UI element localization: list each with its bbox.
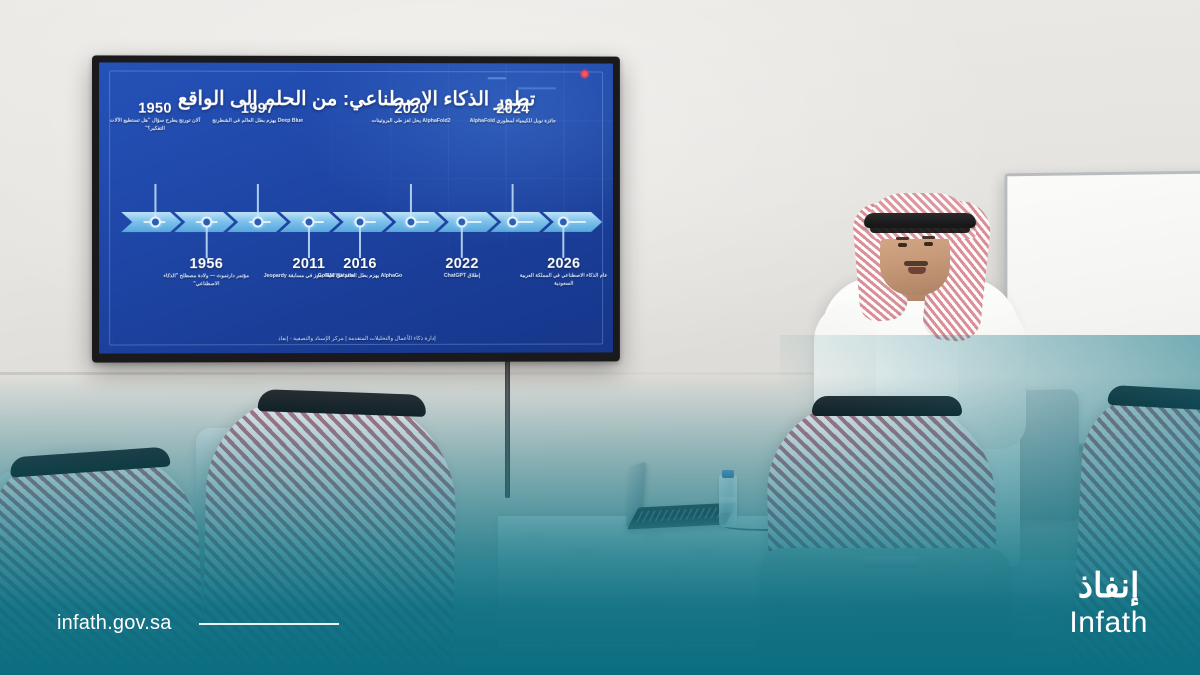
- timeline-node: [507, 216, 518, 227]
- chair-foreground-armrest: [862, 556, 920, 568]
- timeline-description: AlphaGo يهزم بطل العالم في لعبة Go: [308, 273, 412, 281]
- infath-logo-arabic: إنفاذ: [1069, 569, 1148, 605]
- water-bottle-label: [719, 497, 737, 513]
- presenter-eyebrow-left: [896, 237, 909, 240]
- timeline-item: 1956مؤتمر دارتموث — ولادة مصطلح "الذكاء …: [154, 256, 258, 288]
- audience-igal: [812, 396, 962, 416]
- timeline-item: 2022إطلاق ChatGPT: [410, 256, 514, 281]
- timeline-description: إطلاق ChatGPT: [410, 273, 514, 281]
- timeline-description: AlphaFold2 يحل لغز طي البروتينات: [359, 118, 463, 126]
- presenter-table: [498, 516, 798, 666]
- tablecloth-pattern: [498, 516, 798, 666]
- timeline-node: [201, 217, 212, 228]
- presenter-igal-lower: [870, 225, 970, 233]
- timeline-description: آلان تورنج يطرح سؤال "هل تستطيع الآلات ا…: [103, 118, 208, 133]
- timeline-description: Deep Blue يهزم بطل العالم في الشطرنج: [205, 118, 309, 126]
- infath-logo-latin: Infath: [1069, 606, 1148, 639]
- timeline-node: [355, 216, 366, 227]
- timeline-description: مؤتمر دارتموث — ولادة مصطلح "الذكاء الاص…: [154, 273, 258, 288]
- timeline-stem: [205, 224, 207, 258]
- timeline-year: 2016: [308, 256, 412, 272]
- timeline-year: 1950: [103, 101, 208, 117]
- timeline-description: جائزة نوبل للكيمياء لمطوري AlphaFold: [461, 118, 564, 126]
- timeline-item: 1997Deep Blue يهزم بطل العالم في الشطرنج: [205, 101, 309, 126]
- presenter-eyebrow-right: [922, 236, 935, 239]
- timeline-node: [457, 216, 468, 227]
- timeline-chevron: [543, 212, 602, 232]
- timeline-node: [303, 217, 314, 228]
- chair-foreground-seat: [786, 568, 982, 668]
- website-url-block: infath.gov.sa: [57, 612, 339, 635]
- timeline-node: [149, 217, 160, 228]
- timeline-item: 2020AlphaFold2 يحل لغز طي البروتينات: [359, 101, 463, 126]
- timeline-node: [406, 216, 417, 227]
- audience-member: [0, 447, 206, 675]
- photo-scene: تطور الذكاء الاصطناعي: من الحلم إلى الوا…: [0, 0, 1200, 675]
- timeline-stem: [308, 224, 310, 258]
- water-bottle-cap: [722, 470, 734, 478]
- timeline-stem: [359, 224, 361, 258]
- timeline-item: 2026عام الذكاء الاصطناعي في المملكة العر…: [512, 256, 613, 288]
- timeline-year: 2020: [359, 101, 463, 117]
- timeline-item: 2016AlphaGo يهزم بطل العالم في لعبة Go: [308, 256, 412, 281]
- timeline-node: [558, 216, 569, 227]
- timeline-stem: [563, 224, 565, 258]
- slide-footer: إدارة ذكاء الأعمال والتحليلات المتقدمة |…: [99, 336, 613, 343]
- timeline-item: 1950آلان تورنج يطرح سؤال "هل تستطيع الآل…: [103, 101, 208, 133]
- presenter-mouth: [908, 267, 926, 274]
- website-url[interactable]: infath.gov.sa: [57, 612, 172, 635]
- timeline-chevron: [438, 212, 497, 232]
- timeline-year: 2022: [410, 256, 514, 272]
- timeline-year: 2026: [512, 256, 613, 272]
- presenter-mustache: [904, 261, 928, 266]
- infath-logo: إنفاذ Infath: [1069, 569, 1148, 639]
- presenter-eye-left: [898, 243, 907, 247]
- presenter-eye-right: [924, 242, 933, 246]
- timeline-node: [252, 217, 263, 228]
- timeline-year: 1956: [154, 256, 258, 272]
- presentation-slide: تطور الذكاء الاصطناعي: من الحلم إلى الوا…: [99, 62, 613, 353]
- recording-dot-icon: [580, 69, 589, 78]
- timeline-stem: [461, 224, 463, 258]
- tv-stand-arm: [505, 358, 510, 498]
- timeline-year: 1997: [205, 101, 309, 117]
- timeline-year: 2024: [461, 101, 564, 117]
- timeline-item: 2024جائزة نوبل للكيمياء لمطوري AlphaFold: [461, 101, 564, 126]
- url-underline-rule: [199, 623, 339, 625]
- timeline-description: عام الذكاء الاصطناعي في المملكة العربية …: [512, 273, 613, 288]
- wall-mounted-tv: تطور الذكاء الاصطناعي: من الحلم إلى الوا…: [92, 55, 620, 362]
- timeline-chevron: [490, 212, 549, 232]
